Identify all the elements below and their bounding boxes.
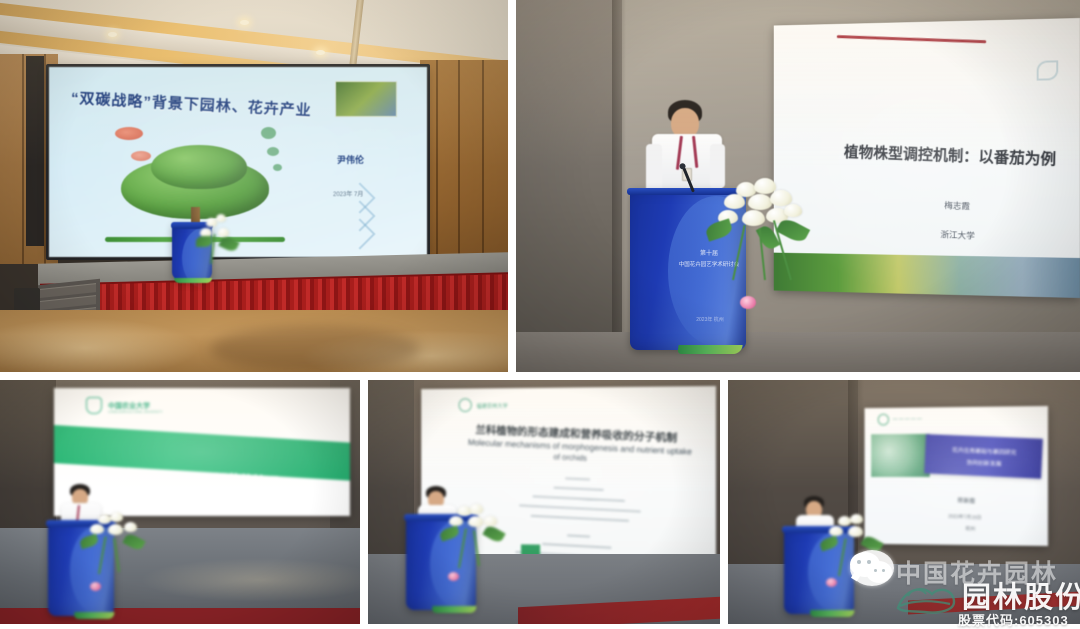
- downlight-icon: [316, 50, 325, 55]
- flower-arrangement: [704, 178, 814, 300]
- flower-arrangement: [440, 504, 506, 584]
- flower-arrangement: [196, 212, 242, 268]
- carbon-cloud-icon: [131, 151, 151, 161]
- projection-screen: 植物株型调控机制：以番茄为例 梅志霞 浙江大学: [774, 18, 1080, 298]
- slide-band-text: 开花的管理: [213, 468, 279, 491]
- panel-bottom-right: — — — — — 花卉应用基础与基因研究 协同创新发展 陈新霞 2023年7月…: [728, 380, 1080, 624]
- slide-presenter: 梅志霞: [944, 199, 970, 213]
- leaf-mark-icon: [1037, 60, 1059, 80]
- slide-content: 植物株型调控机制：以番茄为例 梅志霞 浙江大学: [774, 18, 1080, 298]
- downlight-icon: [240, 20, 249, 25]
- slide-thumbnail: [335, 81, 397, 117]
- podium-line3: 2023年 杭州: [680, 316, 740, 323]
- slide-logo-text: — — — — —: [893, 416, 922, 422]
- projection-screen: — — — — — 花卉应用基础与基因研究 协同创新发展 陈新霞 2023年7月…: [865, 406, 1048, 546]
- carbon-cloud-icon: [115, 127, 143, 140]
- slide-logo-subtext: CHINA AGRICULTURAL UNIVERSITY: [108, 410, 163, 414]
- slide-content: — — — — — 花卉应用基础与基因研究 协同创新发展 陈新霞 2023年7月…: [865, 406, 1048, 546]
- slide-title: 植物株型调控机制：以番茄为例: [844, 139, 1057, 170]
- slide-title: “双碳战略”背景下园林、花卉产业: [70, 87, 312, 121]
- downlight-icon: [108, 32, 117, 37]
- panel-bottom-left: 中国农业大学 CHINA AGRICULTURAL UNIVERSITY 开花的…: [0, 380, 360, 624]
- university-logo-icon: [878, 414, 889, 426]
- panel-top-right: 植物株型调控机制：以番茄为例 梅志霞 浙江大学 第十届 中国花: [516, 0, 1080, 372]
- slide-logo-text: 福建农林大学: [476, 402, 507, 410]
- flower-arrangement: [820, 514, 884, 590]
- panel-top-left: “双碳战略”背景下园林、花卉产业 尹伟伦 2023年 7月: [0, 0, 508, 372]
- slide-footer-strip: [774, 253, 1080, 298]
- university-logo-icon: [86, 397, 102, 414]
- slide-band: [54, 424, 350, 482]
- slide-presenter: 尹伟伦: [337, 153, 364, 166]
- slide-place: 杭州: [965, 525, 975, 532]
- slide-title-en2: of orchids: [553, 452, 587, 462]
- flower-arrangement: [80, 512, 146, 590]
- slide-photo: [870, 433, 931, 478]
- slide-divider: [837, 35, 986, 43]
- slide-presenter: 陈新霞: [958, 495, 976, 505]
- panel-bottom-middle: 福建农林大学 兰科植物的形态建成和营养吸收的分子机制 Molecular mec…: [368, 380, 720, 624]
- slide-organization: 浙江大学: [940, 228, 975, 242]
- slide-date: 2023年7月15日: [948, 513, 982, 522]
- university-logo-icon: [459, 398, 472, 412]
- photo-collage: “双碳战略”背景下园林、花卉产业 尹伟伦 2023年 7月: [0, 0, 1080, 624]
- pink-flower-icon: [740, 296, 756, 309]
